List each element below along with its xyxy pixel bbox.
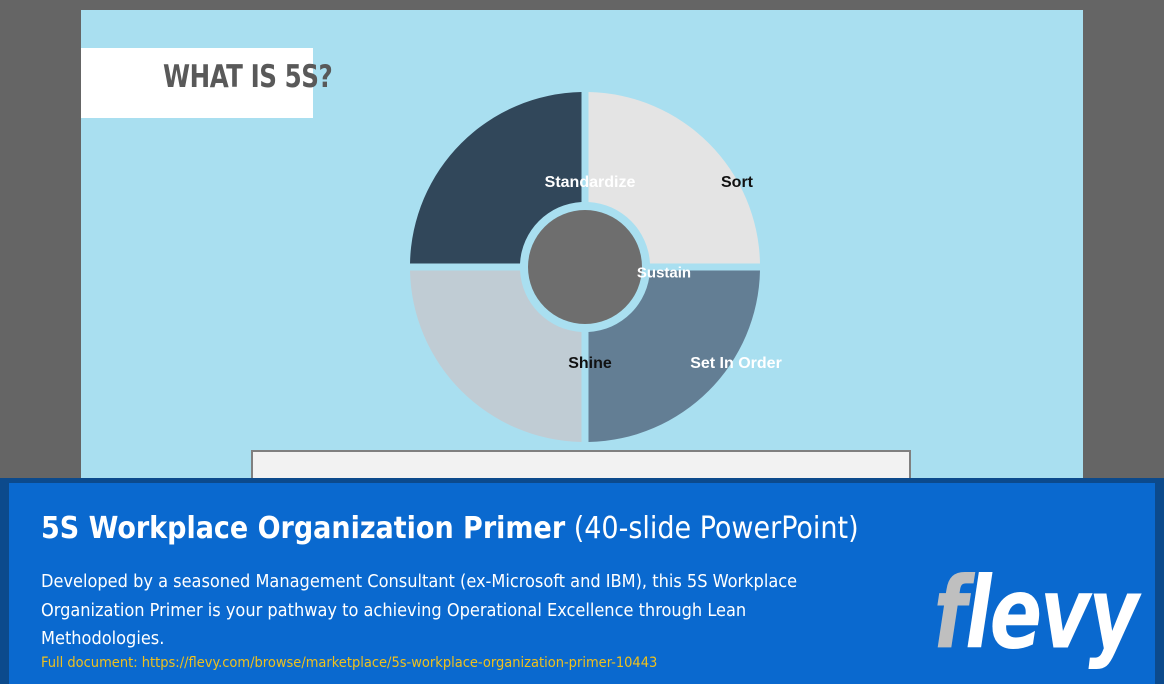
slide-canvas: WHAT IS 5S? Standardize Sort Shine Set I… <box>81 10 1083 497</box>
footer-title-light: (40-slide PowerPoint) <box>565 511 858 546</box>
donut-label-standardize: Standardize <box>545 174 636 192</box>
footer-document-link[interactable]: Full document: https://flevy.com/browse/… <box>41 655 657 671</box>
footer-inner-panel: 5S Workplace Organization Primer (40-sli… <box>9 483 1155 684</box>
donut-svg <box>405 87 765 447</box>
five-s-donut-diagram: Standardize Sort Shine Set In Order Sust… <box>405 87 765 447</box>
flevy-logo-f: f <box>934 557 966 672</box>
footer-description: Developed by a seasoned Management Consu… <box>41 568 811 654</box>
donut-label-shine: Shine <box>568 355 612 373</box>
page-title: WHAT IS 5S? <box>163 59 332 95</box>
donut-label-set-in-order: Set In Order <box>690 355 782 373</box>
flevy-footer-banner: 5S Workplace Organization Primer (40-sli… <box>0 478 1164 684</box>
flevy-logo-rest: levy <box>965 557 1137 672</box>
flevy-logo[interactable]: flevy <box>934 565 1138 664</box>
donut-label-sustain: Sustain <box>637 265 691 282</box>
footer-title-bold: 5S Workplace Organization Primer <box>41 511 565 546</box>
donut-label-sort: Sort <box>721 174 753 192</box>
footer-document-title: 5S Workplace Organization Primer (40-sli… <box>41 511 859 546</box>
donut-center-circle[interactable] <box>528 210 642 324</box>
screenshot-canvas: WHAT IS 5S? Standardize Sort Shine Set I… <box>0 0 1164 684</box>
